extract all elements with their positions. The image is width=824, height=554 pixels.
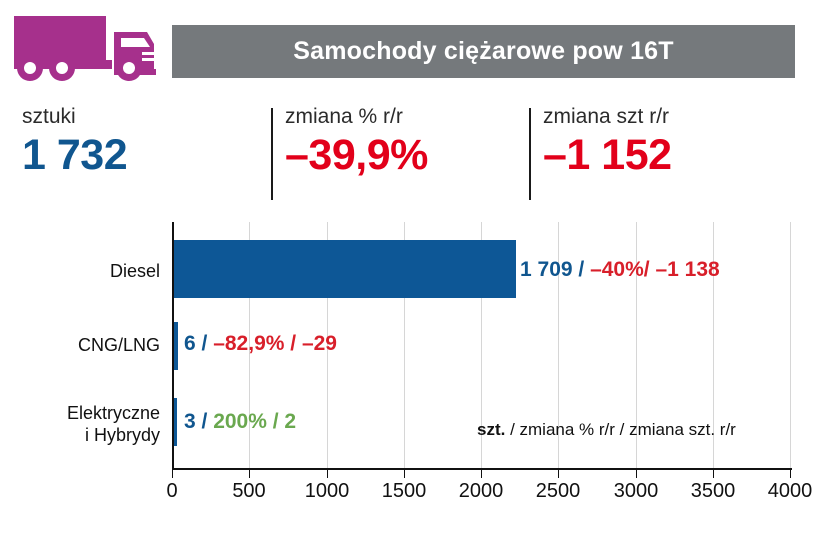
title-banner: Samochody ciężarowe pow 16T [172,25,795,78]
kpi-sztuki-label: sztuki [22,104,127,130]
x-tick-label: 4000 [768,480,813,503]
annotation-units: 1 709 [520,258,573,281]
x-tick-mark [558,470,559,478]
annotation-units: 6 [184,332,196,355]
x-tick-label: 500 [232,480,265,503]
bar-cnglng [174,322,178,370]
page-title: Samochody ciężarowe pow 16T [293,37,674,66]
kpi-zmiana-szt-label: zmiana szt r/r [543,104,672,130]
kpi-sztuki: sztuki 1 732 [22,104,127,204]
annotation-delta: 2 [284,410,296,433]
annotation-units: 3 [184,410,196,433]
kpi-zmiana-pct-label: zmiana % r/r [285,104,428,130]
row-label-elhyb-line2: i Hybrydy [0,424,160,446]
truck-icon [14,14,166,82]
x-tick-mark [249,470,250,478]
row-label-elhyb: Elektryczne i Hybrydy [0,402,160,446]
kpi-zmiana-pct: zmiana % r/r –39,9% [285,104,428,204]
x-tick-label: 1500 [382,480,427,503]
annotation-sep: / [196,410,214,433]
bar-annotation-diesel: 1 709 / –40%/ –1 138 [520,258,720,282]
kpi-zmiana-szt-value: –1 152 [543,130,672,180]
annotation-sep: / [196,332,214,355]
row-label-diesel: Diesel [0,260,160,282]
annotation-sep: / [573,258,591,281]
x-tick-mark [327,470,328,478]
row-label-cnglng: CNG/LNG [0,334,160,356]
x-tick-mark [481,470,482,478]
x-tick-label: 0 [166,480,177,503]
x-tick-label: 2500 [536,480,581,503]
kpi-strip: sztuki 1 732 zmiana % r/r –39,9% zmiana … [0,104,824,208]
bar-annotation-elhyb: 3 / 200% / 2 [184,410,296,434]
kpi-sztuki-value: 1 732 [22,130,127,180]
x-tick-label: 1000 [305,480,350,503]
annotation-pct: 200% / [213,410,284,433]
annotation-pct: –40%/ [590,258,655,281]
bar-elhyb [174,398,177,446]
table-row: CNG/LNG 6 / –82,9% / –29 [0,322,824,382]
table-row: Diesel 1 709 / –40%/ –1 138 [0,238,824,308]
kpi-divider-1 [271,108,273,200]
legend-note-rest: / zmiana % r/r / zmiana szt. r/r [505,420,736,439]
kpi-zmiana-pct-value: –39,9% [285,130,428,180]
annotation-pct: –82,9% / [213,332,302,355]
kpi-divider-2 [529,108,531,200]
x-tick-label: 3500 [691,480,736,503]
row-label-elhyb-line1: Elektryczne [0,402,160,424]
kpi-zmiana-szt: zmiana szt r/r –1 152 [543,104,672,204]
bar-chart: 05001000150020002500300035004000 Diesel … [0,222,824,532]
header: Samochody ciężarowe pow 16T [0,0,824,96]
x-tick-mark [636,470,637,478]
x-tick-label: 2000 [459,480,504,503]
x-axis-line [172,468,792,470]
x-tick-label: 3000 [614,480,659,503]
bar-diesel [174,240,516,298]
x-tick-mark [790,470,791,478]
x-tick-mark [404,470,405,478]
x-tick-mark [713,470,714,478]
x-tick-mark [172,470,173,478]
legend-note: szt. / zmiana % r/r / zmiana szt. r/r [477,420,736,440]
legend-note-bold: szt. [477,420,505,439]
bar-annotation-cnglng: 6 / –82,9% / –29 [184,332,337,356]
annotation-delta: –29 [302,332,337,355]
annotation-delta: –1 138 [655,258,719,281]
